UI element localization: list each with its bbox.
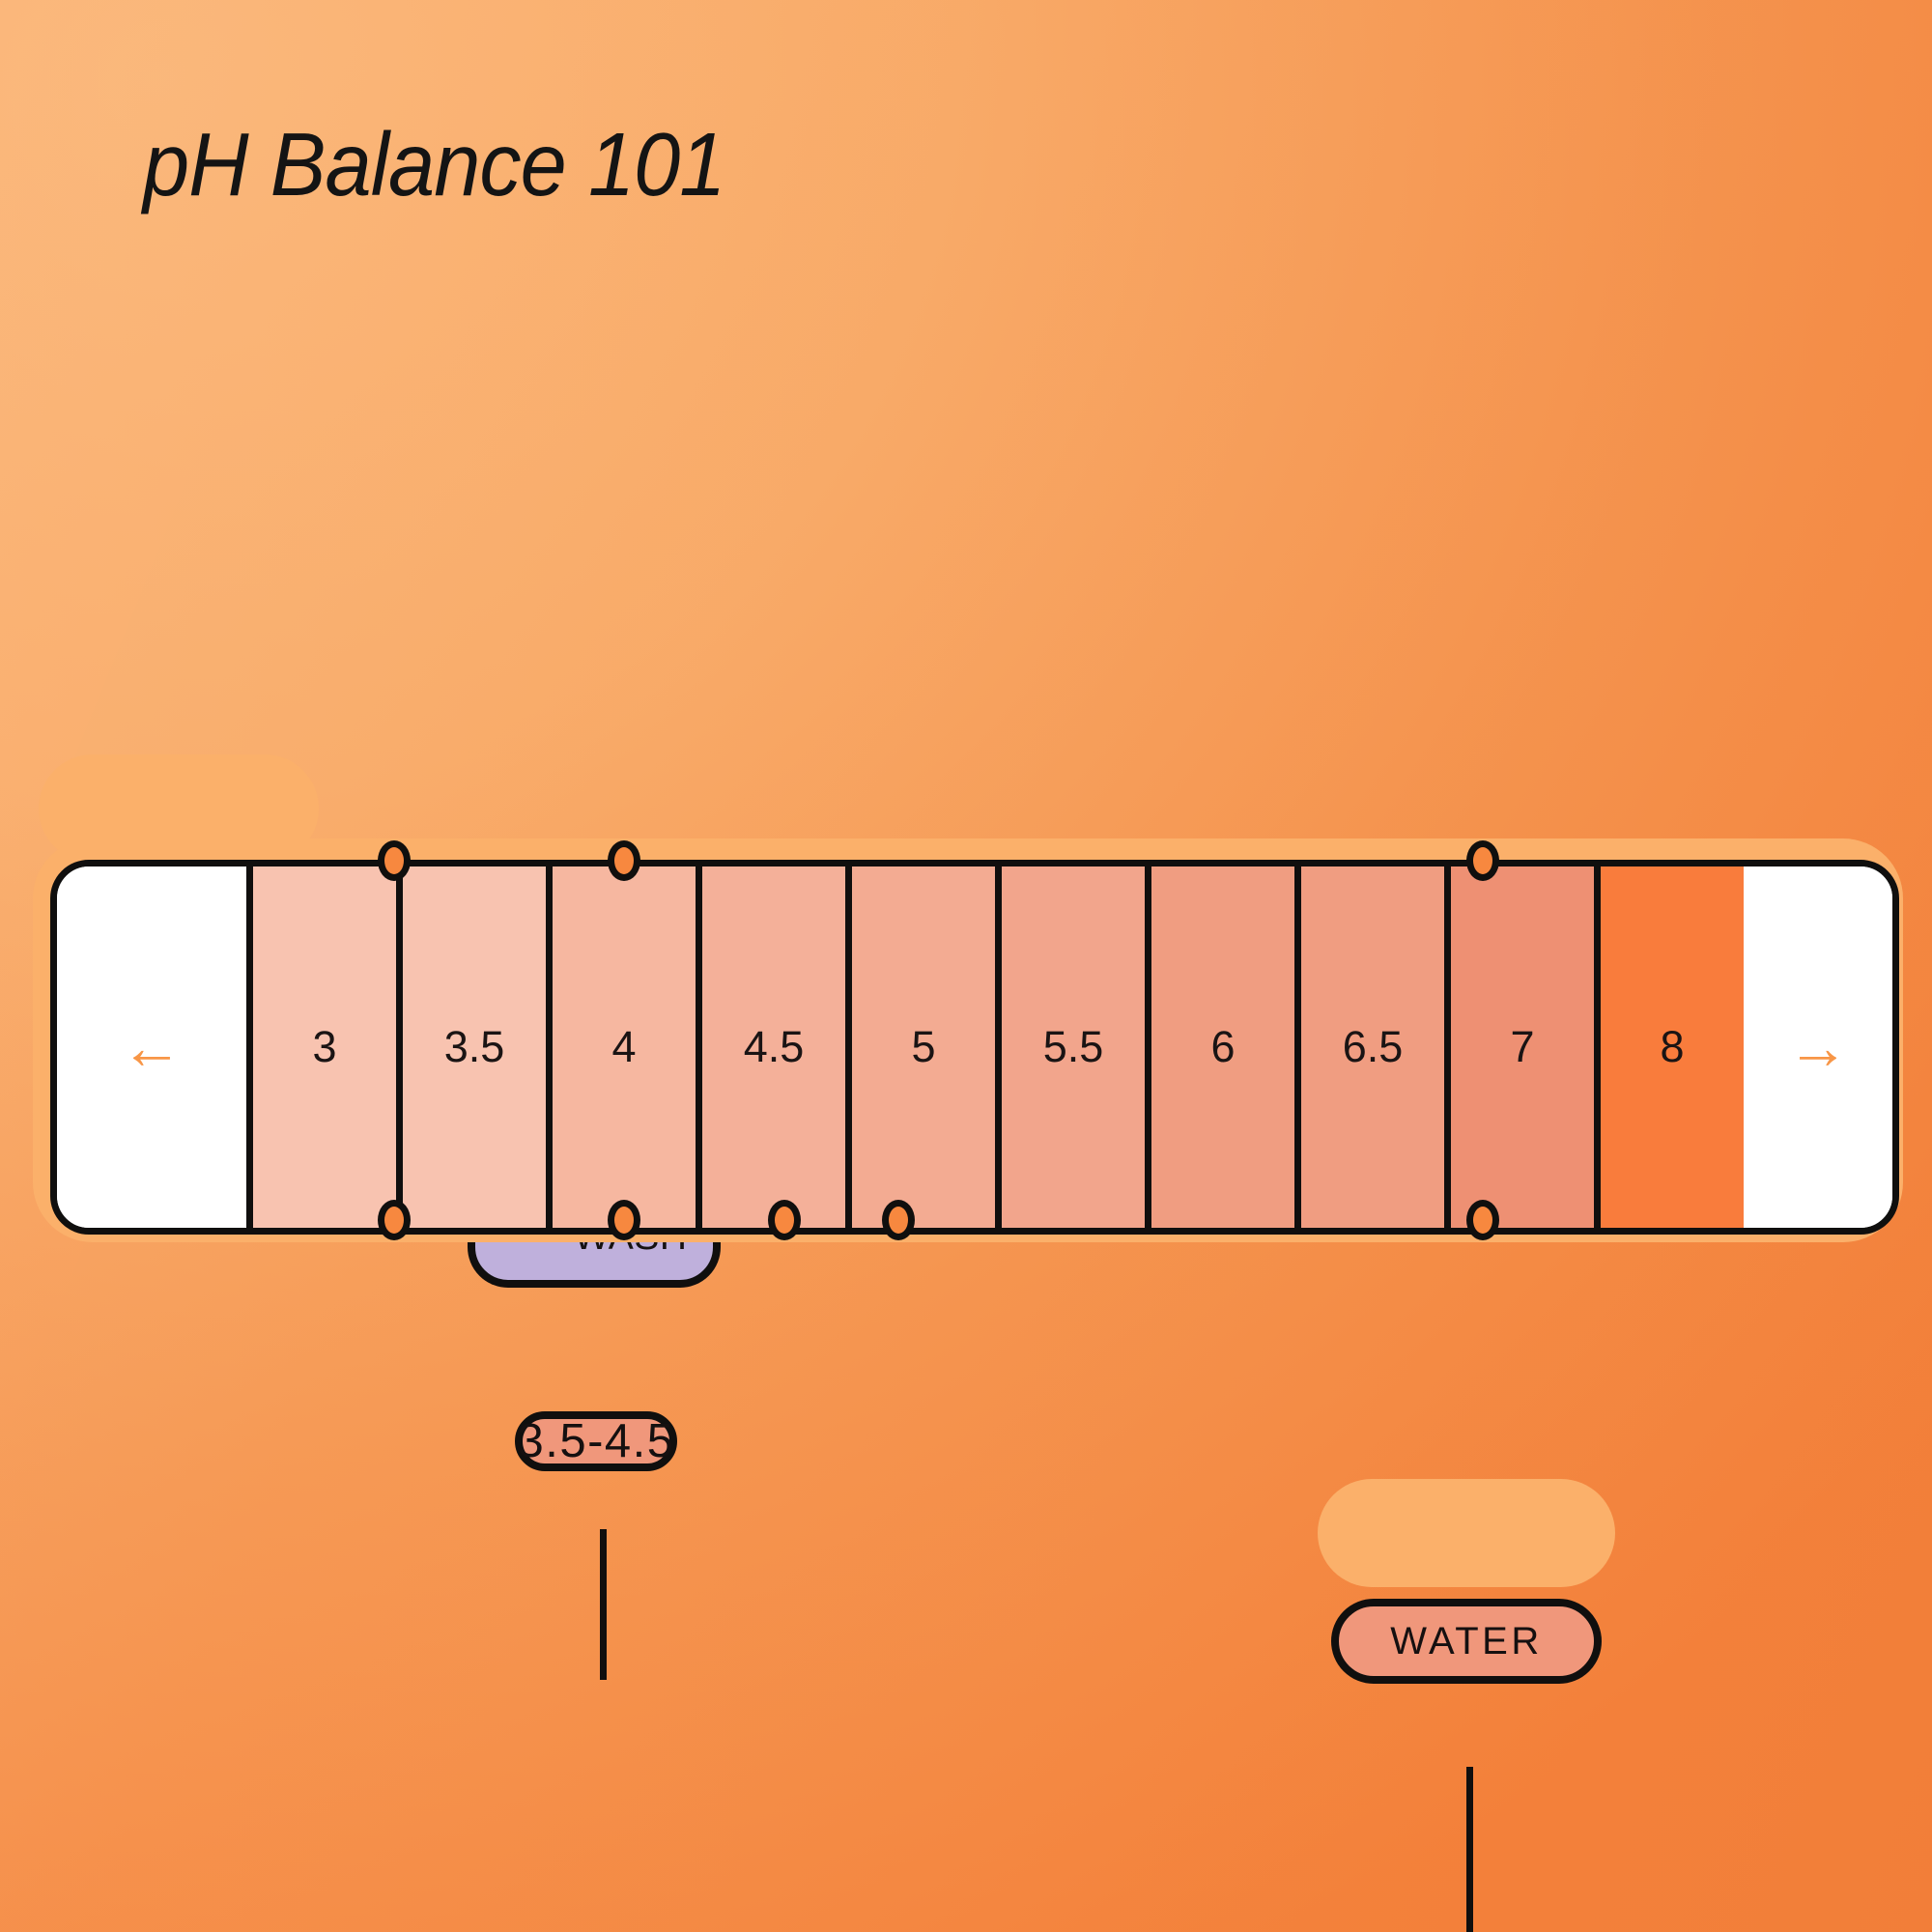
scale-dot-bottom-4_5[interactable] (608, 1200, 640, 1240)
water-halo (1318, 1479, 1615, 1587)
scale-dot-bottom-5_9[interactable] (882, 1200, 915, 1240)
scale-cap-right[interactable]: → (1744, 867, 1892, 1228)
scale-dot-bottom-3_5[interactable] (378, 1200, 411, 1240)
scale-cap-left[interactable]: ← (57, 867, 253, 1228)
scale-cell-3[interactable]: 3 (253, 867, 403, 1228)
scale-cell-value: 5 (911, 1022, 935, 1072)
scale-cell-value: 8 (1660, 1022, 1684, 1072)
scale-cell-6[interactable]: 6 (1151, 867, 1301, 1228)
scale-cell-value: 4 (611, 1022, 636, 1072)
ph-scale: ← 33.544.555.566.578 → (33, 838, 1903, 1242)
scale-dot-bottom-5_4[interactable] (768, 1200, 801, 1240)
scale-cell-value: 6.5 (1343, 1022, 1404, 1072)
water-pill[interactable]: WATER (1331, 1599, 1602, 1684)
scale-dot-top-7[interactable] (1466, 840, 1499, 881)
scale-cell-5_5[interactable]: 5.5 (1002, 867, 1151, 1228)
page-title: pH Balance 101 (143, 120, 1932, 210)
scale-cell-5[interactable]: 5 (852, 867, 1002, 1228)
scale-dot-top-3_5[interactable] (378, 840, 411, 881)
scale-cell-value: 5.5 (1043, 1022, 1104, 1072)
normal-wash-stem (600, 1529, 607, 1680)
arrow-left-icon: ← (121, 1016, 183, 1078)
scale-cell-7[interactable]: 7 (1451, 867, 1601, 1228)
normal-wash-value-pill[interactable]: 3.5-4.5 (515, 1411, 677, 1471)
normal-wash-value: 3.5-4.5 (517, 1414, 674, 1468)
scale-dot-top-4_5[interactable] (608, 840, 640, 881)
ph-scale-bar: ← 33.544.555.566.578 → (50, 860, 1899, 1235)
scale-cell-8[interactable]: 8 (1601, 867, 1744, 1228)
scale-cell-value: 3.5 (444, 1022, 505, 1072)
scale-dot-bottom-7[interactable] (1466, 1200, 1499, 1240)
arrow-right-icon: → (1787, 1016, 1849, 1078)
scale-cell-4[interactable]: 4 (553, 867, 702, 1228)
infographic-canvas: pH Balance 101 ACIDIC H NORMAL WASH 3.5-… (0, 0, 1932, 1932)
scale-cell-6_5[interactable]: 6.5 (1301, 867, 1451, 1228)
scale-cell-value: 7 (1510, 1022, 1534, 1072)
water-stem (1466, 1767, 1473, 1932)
scale-cell-value: 3 (312, 1022, 336, 1072)
scale-cell-value: 4.5 (744, 1022, 805, 1072)
scale-cell-4_5[interactable]: 4.5 (702, 867, 852, 1228)
water-label: WATER (1390, 1620, 1542, 1663)
scale-cell-3_5[interactable]: 3.5 (403, 867, 553, 1228)
scale-cell-value: 6 (1210, 1022, 1235, 1072)
